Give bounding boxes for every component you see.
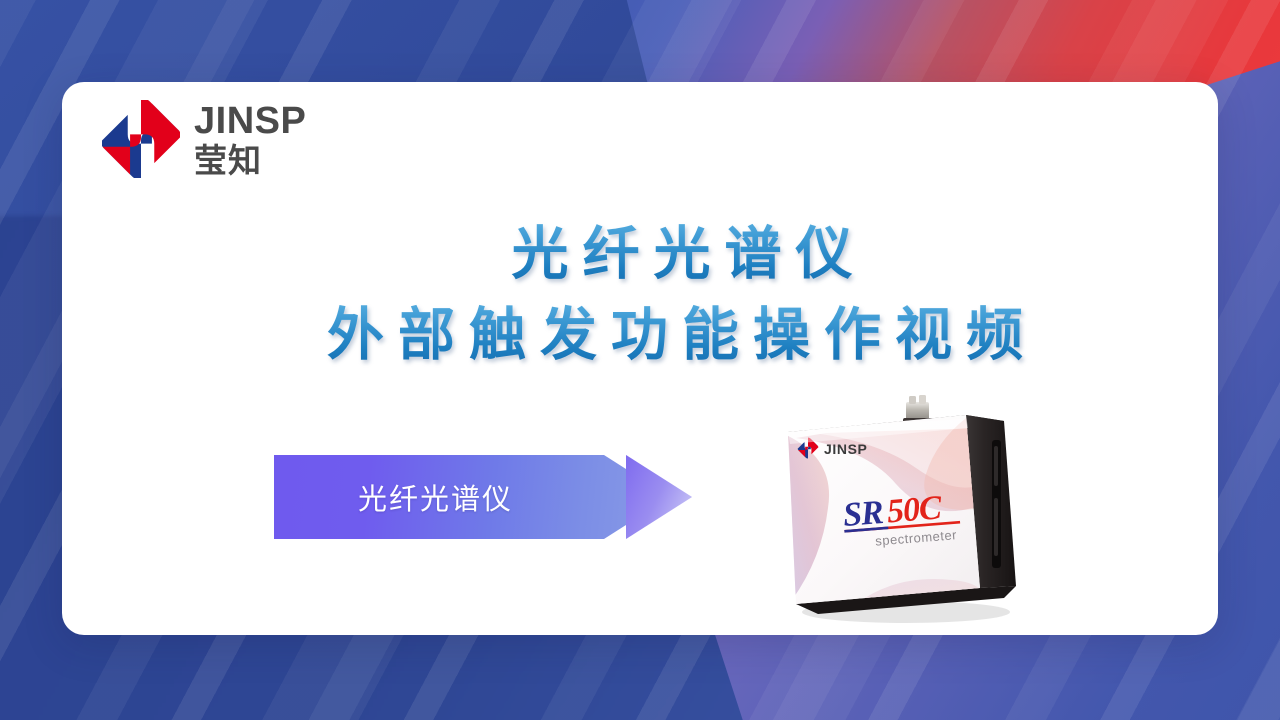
title-line-1: 光纤光谱仪: [272, 214, 1092, 295]
title-line-2: 外部触发功能操作视频: [272, 295, 1092, 376]
brand-lockup: JINSP 莹知: [102, 100, 306, 178]
brand-name-en: JINSP: [194, 102, 306, 140]
content-card: JINSP 莹知 光纤光谱仪 外部触发功能操作视频 光纤光谱仪: [62, 82, 1218, 635]
page-title: 光纤光谱仪 外部触发功能操作视频: [272, 214, 1092, 376]
brand-name-cn: 莹知: [194, 144, 306, 177]
chevron-right-icon: [626, 455, 714, 539]
spectrometer-illustration: JINSP SR 50C spectrometer: [766, 388, 1036, 628]
jinsp-diamond-logo-icon: [102, 100, 180, 178]
brand-text: JINSP 莹知: [194, 102, 306, 177]
arrow-banner[interactable]: 光纤光谱仪: [274, 455, 714, 539]
svg-text:JINSP: JINSP: [824, 441, 867, 457]
arrow-banner-label: 光纤光谱仪: [358, 476, 513, 518]
spectrometer-product-photo: JINSP SR 50C spectrometer: [766, 388, 1036, 628]
